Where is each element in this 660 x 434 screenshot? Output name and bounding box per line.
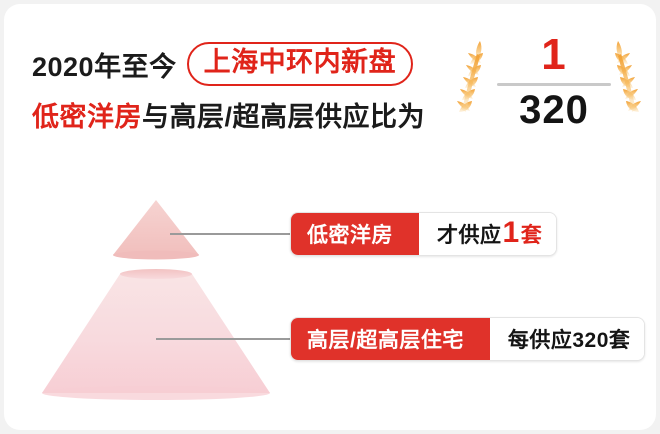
ratio-numerator: 1: [491, 32, 617, 78]
wheat-laurel-icon: [450, 36, 496, 124]
callout-low-density[interactable]: 低密洋房 才供应 1 套: [290, 212, 557, 256]
callout-value: 每供应320套: [490, 318, 645, 360]
callout-high-rise[interactable]: 高层/超高层住宅 每供应320套: [290, 317, 645, 361]
infographic-card: 2020年至今 上海中环内新盘 低密洋房 与高层/超高层供应比为: [4, 4, 656, 430]
callout-value-prefix: 才供应: [437, 219, 502, 249]
ratio-divider: [497, 83, 611, 86]
leader-line-top: [170, 233, 298, 235]
callout-value-unit: 套: [521, 219, 543, 249]
headline-line-2: 低密洋房 与高层/超高层供应比为: [32, 92, 442, 136]
headline-suffix: 与高层/超高层供应比为: [142, 95, 425, 134]
headline-highlight-pill: 上海中环内新盘: [187, 42, 414, 86]
pyramid-chart: [22, 182, 290, 410]
pyramid-tier-top: [113, 200, 199, 260]
headline-line-1: 2020年至今 上海中环内新盘: [32, 42, 442, 86]
callout-category-label: 高层/超高层住宅: [291, 318, 490, 360]
ratio-denominator: 320: [491, 88, 617, 132]
leader-line-bottom: [156, 338, 298, 340]
callout-value: 才供应 1 套: [419, 213, 556, 255]
headline-emphasis: 低密洋房: [32, 95, 142, 134]
callout-category-label: 低密洋房: [291, 213, 419, 255]
pyramid-tier-bottom: [42, 269, 270, 400]
callout-value-number: 1: [502, 218, 521, 248]
headline-prefix: 2020年至今: [32, 45, 177, 84]
headline: 2020年至今 上海中环内新盘 低密洋房 与高层/超高层供应比为: [32, 42, 442, 136]
ratio-block: 1 320: [491, 32, 617, 132]
